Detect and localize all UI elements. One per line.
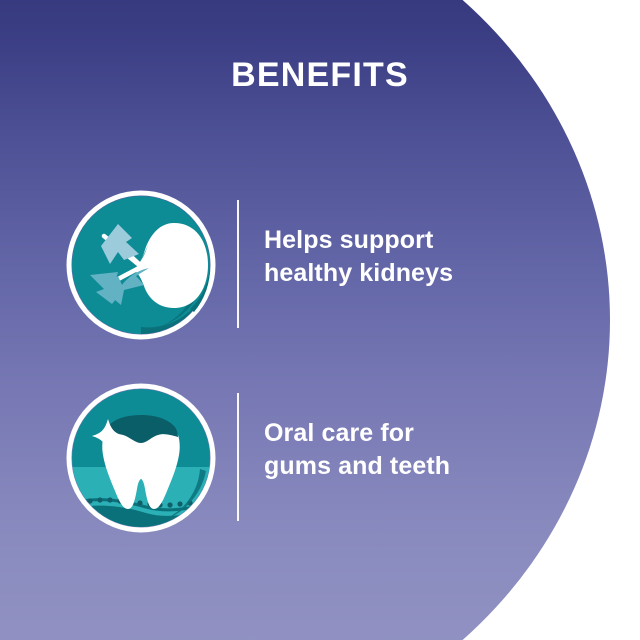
benefit-label-line1: Helps support <box>264 224 524 257</box>
benefit-label-line2: gums and teeth <box>264 450 524 483</box>
benefit-label-kidney: Helps support healthy kidneys <box>264 224 524 290</box>
benefit-row-tooth: Oral care for gums and teeth <box>0 383 640 533</box>
tooth-icon <box>66 383 216 533</box>
benefit-divider <box>237 200 239 328</box>
benefit-label-tooth: Oral care for gums and teeth <box>264 417 524 483</box>
benefit-label-line1: Oral care for <box>264 417 524 450</box>
benefit-row-kidney: Helps support healthy kidneys <box>0 190 640 340</box>
kidney-icon-svg <box>66 190 216 340</box>
benefits-panel: BENEFITS <box>0 0 640 640</box>
kidney-icon <box>66 190 216 340</box>
page-title: BENEFITS <box>0 56 640 94</box>
tooth-icon-svg <box>66 383 216 533</box>
benefit-label-line2: healthy kidneys <box>264 257 524 290</box>
benefit-divider <box>237 393 239 521</box>
